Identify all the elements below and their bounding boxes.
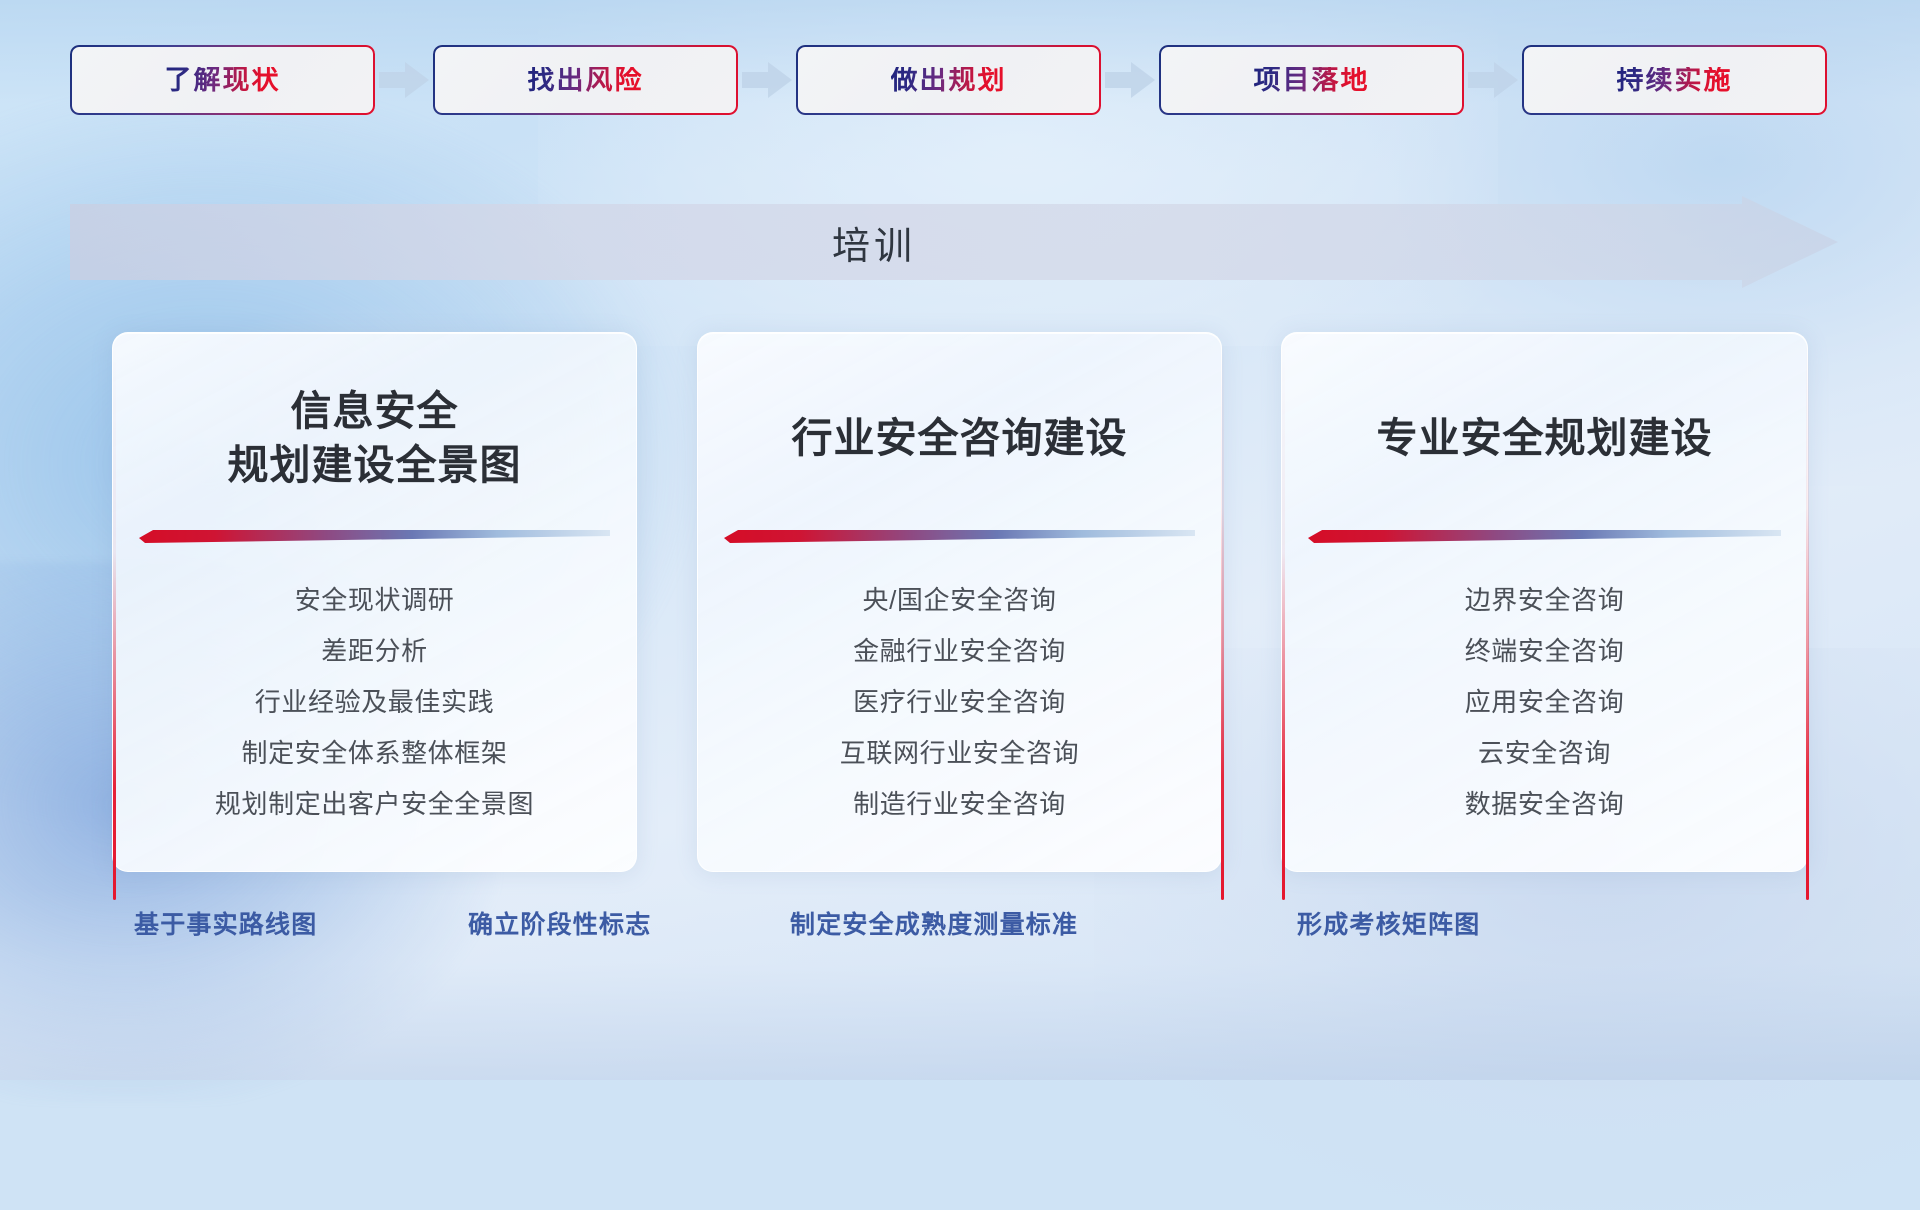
footer-label-4: 形成考核矩阵图 — [1297, 905, 1480, 941]
card-accent-rail-right-2 — [1221, 340, 1224, 900]
card-title: 专业安全规划建设 — [1308, 333, 1781, 533]
list-item: 制造行业安全咨询 — [853, 779, 1066, 830]
card-content: 信息安全 规划建设全景图 — [113, 333, 636, 871]
list-item: 金融行业安全咨询 — [853, 626, 1066, 677]
training-banner: 培训 — [70, 196, 1838, 288]
list-item: 云安全咨询 — [1478, 728, 1611, 779]
list-item: 行业经验及最佳实践 — [255, 677, 494, 728]
step-item-4[interactable]: 项目落地 — [1159, 45, 1464, 115]
card-content: 行业安全咨询建设 — [698, 333, 1221, 871]
step-item-3[interactable]: 做出规划 — [796, 45, 1101, 115]
card-content: 专业安全规划建设 — [1282, 333, 1807, 871]
arrow-right-icon — [1101, 57, 1159, 103]
step-item-2[interactable]: 找出风险 — [433, 45, 738, 115]
step-label: 了解现状 — [165, 67, 281, 94]
step-label: 项目落地 — [1254, 67, 1370, 94]
list-item: 数据安全咨询 — [1465, 779, 1625, 830]
banner-label: 培训 — [70, 196, 1678, 288]
card-title-divider — [724, 527, 1195, 545]
card-accent-rail-left-3 — [1282, 340, 1285, 900]
step-label: 找出风险 — [528, 67, 644, 94]
card-title: 行业安全咨询建设 — [724, 333, 1195, 533]
card-accent-rail-right-3 — [1806, 340, 1809, 900]
card-information-security-panorama[interactable]: 信息安全 规划建设全景图 — [112, 332, 637, 872]
list-item: 央/国企安全咨询 — [862, 575, 1056, 626]
card-title-divider — [139, 527, 610, 545]
arrow-right-icon — [375, 57, 433, 103]
card-row: 信息安全 规划建设全景图 — [0, 332, 1920, 877]
card-title-divider — [1308, 527, 1781, 545]
arrow-right-icon — [738, 57, 796, 103]
card-industry-security-consulting[interactable]: 行业安全咨询建设 — [697, 332, 1222, 872]
step-item-1[interactable]: 了解现状 — [70, 45, 375, 115]
list-item: 安全现状调研 — [295, 575, 455, 626]
footer-label-row: 基于事实路线图 确立阶段性标志 制定安全成熟度测量标准 形成考核矩阵图 — [0, 905, 1920, 965]
list-item: 差距分析 — [321, 626, 427, 677]
arrow-right-icon — [1464, 57, 1522, 103]
step-label: 做出规划 — [891, 67, 1007, 94]
step-label: 持续实施 — [1617, 67, 1733, 94]
list-item: 终端安全咨询 — [1465, 626, 1625, 677]
list-item: 规划制定出客户安全全景图 — [215, 779, 534, 830]
footer-label-1: 基于事实路线图 — [134, 905, 317, 941]
list-item: 边界安全咨询 — [1465, 575, 1625, 626]
card-professional-security-planning[interactable]: 专业安全规划建设 — [1281, 332, 1808, 872]
list-item: 制定安全体系整体框架 — [241, 728, 507, 779]
card-item-list: 边界安全咨询 终端安全咨询 应用安全咨询 云安全咨询 数据安全咨询 — [1308, 575, 1781, 830]
card-item-list: 安全现状调研 差距分析 行业经验及最佳实践 制定安全体系整体框架 规划制定出客户… — [139, 575, 610, 830]
card-item-list: 央/国企安全咨询 金融行业安全咨询 医疗行业安全咨询 互联网行业安全咨询 制造行… — [724, 575, 1195, 830]
process-step-row: 了解现状 找出风险 做出规划 项目落地 持续实施 — [0, 0, 1920, 160]
step-item-5[interactable]: 持续实施 — [1522, 45, 1827, 115]
footer-label-3: 制定安全成熟度测量标准 — [790, 905, 1078, 941]
list-item: 医疗行业安全咨询 — [853, 677, 1066, 728]
card-accent-rail-left-1 — [113, 340, 116, 900]
footer-label-2: 确立阶段性标志 — [468, 905, 651, 941]
list-item: 应用安全咨询 — [1465, 677, 1625, 728]
list-item: 互联网行业安全咨询 — [840, 728, 1079, 779]
card-title: 信息安全 规划建设全景图 — [139, 333, 610, 533]
